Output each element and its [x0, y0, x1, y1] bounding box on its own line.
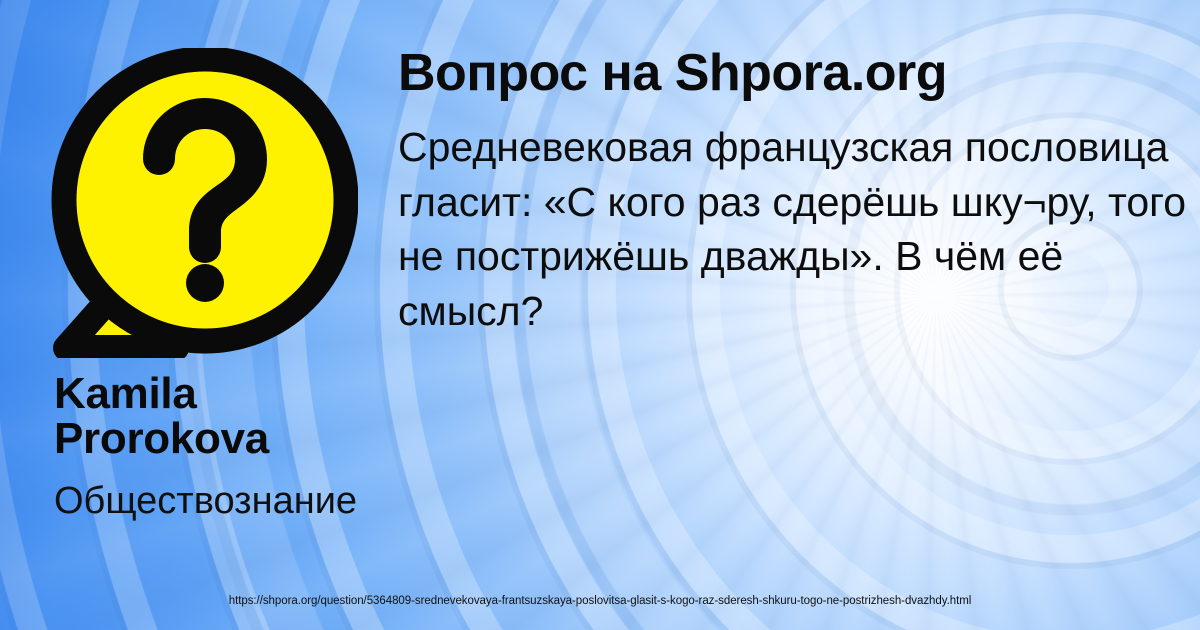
- page-title: Вопрос на Shpora.org: [398, 44, 1200, 102]
- share-card: Kamila Prorokova Обществознание Вопрос н…: [0, 0, 1200, 630]
- subject-label: Обществознание: [54, 482, 394, 522]
- main-column: Вопрос на Shpora.org Средневековая франц…: [398, 44, 1200, 338]
- question-body: Средневековая французская пословица глас…: [398, 120, 1200, 338]
- author-name: Kamila Prorokova: [54, 372, 394, 462]
- card-content: Kamila Prorokova Обществознание Вопрос н…: [0, 0, 1200, 630]
- source-url[interactable]: https://shpora.org/question/5364809-sred…: [229, 595, 972, 607]
- question-speech-bubble-icon: [48, 48, 358, 358]
- url-strip: https://shpora.org/question/5364809-sred…: [0, 592, 1200, 610]
- author-block: Kamila Prorokova Обществознание: [54, 372, 394, 522]
